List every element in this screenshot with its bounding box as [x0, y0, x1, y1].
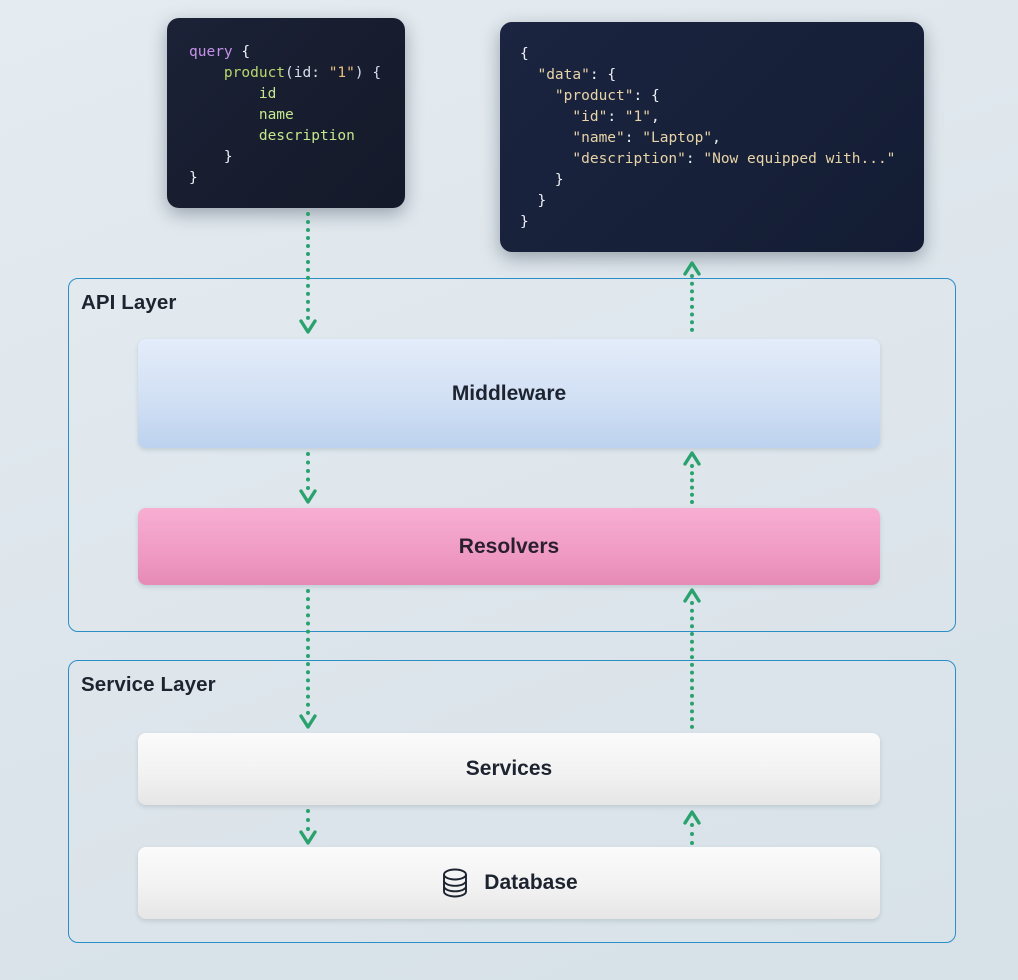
code-token: : — [625, 130, 642, 146]
flow-middleware-to-resolvers — [306, 452, 310, 504]
code-line: } — [189, 147, 383, 168]
code-line: } — [520, 170, 904, 191]
code-line: } — [189, 168, 383, 189]
code-token: } — [520, 214, 529, 230]
node-middleware[interactable]: Middleware — [138, 339, 880, 448]
flow-arrowhead-icon — [682, 587, 702, 603]
flow-arrowhead-icon — [298, 489, 318, 505]
flow-stem — [306, 212, 310, 320]
flow-arrowhead-icon — [682, 450, 702, 466]
flow-arrowhead-icon — [682, 809, 702, 825]
code-line: product(id: "1") { — [189, 63, 383, 84]
node-database-label: Database — [484, 871, 577, 895]
code-line: id — [189, 84, 383, 105]
flow-query-to-middleware — [306, 212, 310, 334]
node-services[interactable]: Services — [138, 733, 880, 805]
service-layer-title: Service Layer — [81, 673, 216, 697]
code-token: "data" — [537, 67, 589, 83]
node-resolvers[interactable]: Resolvers — [138, 508, 880, 585]
code-token: "1" — [625, 109, 651, 125]
node-middleware-label: Middleware — [452, 382, 566, 406]
flow-arrowhead-icon — [298, 714, 318, 730]
code-token: description — [259, 128, 355, 144]
code-line: "description": "Now equipped with..." — [520, 149, 904, 170]
code-token: } — [224, 149, 233, 165]
code-token: name — [259, 107, 294, 123]
code-token: (id: — [285, 65, 329, 81]
code-line: query { — [189, 42, 383, 63]
flow-resolvers-to-middleware — [690, 450, 694, 504]
code-token: id — [259, 86, 276, 102]
flow-stem — [306, 452, 310, 490]
code-token: "product" — [555, 88, 634, 104]
code-token: : — [590, 67, 607, 83]
code-line: } — [520, 191, 904, 212]
graphql-query-card: query { product(id: "1") { id name descr… — [167, 18, 405, 208]
code-line: "name": "Laptop", — [520, 128, 904, 149]
code-token: "Laptop" — [642, 130, 712, 146]
flow-stem — [690, 601, 694, 729]
flow-resolvers-to-services — [306, 589, 310, 729]
code-token: ) { — [355, 65, 381, 81]
flow-services-to-resolvers — [690, 587, 694, 729]
flow-stem — [690, 274, 694, 332]
code-token: } — [555, 172, 564, 188]
flow-arrowhead-icon — [298, 830, 318, 846]
flow-stem — [306, 809, 310, 831]
node-database[interactable]: Database — [138, 847, 880, 919]
code-token: "description" — [572, 151, 686, 167]
code-token: "id" — [572, 109, 607, 125]
flow-services-to-database — [306, 809, 310, 845]
code-line: "id": "1", — [520, 107, 904, 128]
api-layer-title: API Layer — [81, 291, 176, 315]
flow-arrowhead-icon — [682, 260, 702, 276]
node-resolvers-label: Resolvers — [459, 535, 559, 559]
code-token: { — [607, 67, 616, 83]
flow-stem — [306, 589, 310, 715]
flow-stem — [690, 464, 694, 504]
flow-middleware-to-response — [690, 260, 694, 332]
code-token: } — [537, 193, 546, 209]
code-token: } — [189, 170, 198, 186]
code-token: query — [189, 44, 241, 60]
code-token: "1" — [329, 65, 355, 81]
code-line: description — [189, 126, 383, 147]
code-token: "Now equipped with..." — [703, 151, 895, 167]
code-token: : — [607, 109, 624, 125]
code-token: { — [241, 44, 250, 60]
code-token: "name" — [572, 130, 624, 146]
flow-stem — [690, 823, 694, 845]
code-token: : — [634, 88, 651, 104]
code-token: : — [686, 151, 703, 167]
code-line: name — [189, 105, 383, 126]
flow-database-to-services — [690, 809, 694, 845]
code-token: product — [224, 65, 285, 81]
diagram-canvas: query { product(id: "1") { id name descr… — [0, 0, 1018, 980]
code-token: , — [712, 130, 721, 146]
code-line: } — [520, 212, 904, 233]
code-line: { — [520, 44, 904, 65]
flow-arrowhead-icon — [298, 319, 318, 335]
code-token: , — [651, 109, 660, 125]
graphql-response-card: { "data": { "product": { "id": "1", "nam… — [500, 22, 924, 252]
code-token: { — [520, 46, 529, 62]
code-token: { — [651, 88, 660, 104]
node-services-label: Services — [466, 757, 552, 781]
code-line: "data": { — [520, 65, 904, 86]
database-cylinder-icon — [440, 867, 470, 899]
code-line: "product": { — [520, 86, 904, 107]
